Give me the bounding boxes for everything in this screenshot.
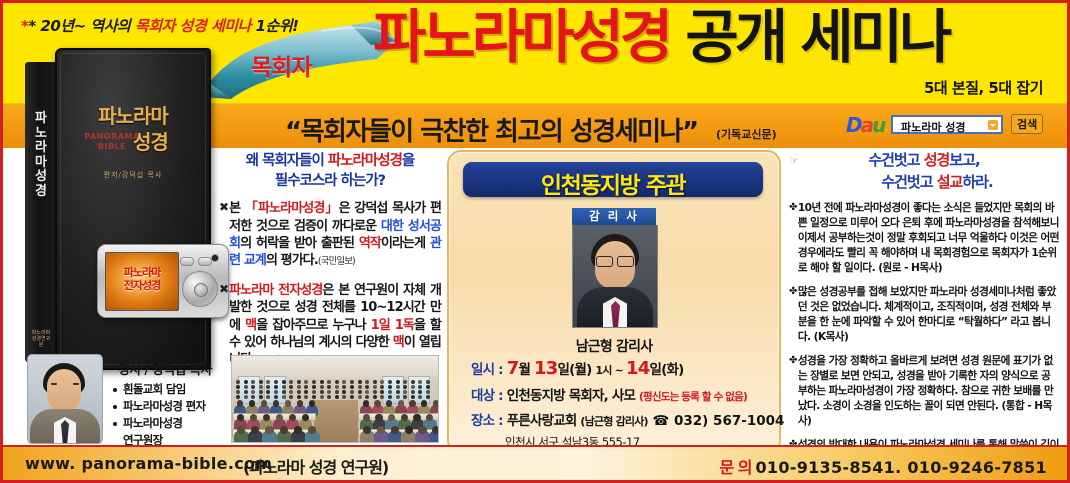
audience-head <box>327 385 331 389</box>
book-cover: 파노라마 PANORAMA BIBLE 성경 편저/강덕섭 목사 파노라마 전자… <box>55 48 211 370</box>
photo-ceiling <box>232 356 438 378</box>
audience-head <box>282 385 286 389</box>
event-card: 인천동지방 주관 감 리 사 남근형 감리사 일시 :7월 13일(월) 1시 … <box>447 150 781 454</box>
audience-head <box>373 390 377 394</box>
audience-head <box>396 395 400 399</box>
audience-head <box>411 385 415 389</box>
device-camera-icon <box>211 254 219 262</box>
audience-desk <box>358 442 439 443</box>
instructor-eye-left <box>51 383 57 385</box>
audience-head <box>358 385 362 389</box>
search-input-value: 파노라마 성경 <box>901 119 966 135</box>
audience-head <box>274 395 278 399</box>
right-heading-1a: 수건벗고 <box>868 151 923 169</box>
audience-head <box>265 426 273 434</box>
event-detail-value: 7월 13일(월) 1시 ~ 14일(화) <box>507 358 684 379</box>
audience-head <box>426 395 430 399</box>
text-run: 의 허락을 받아 출판된 <box>240 236 359 251</box>
audience-head <box>403 385 407 389</box>
audience-head <box>373 380 377 384</box>
event-detail-label: 일시 : <box>471 358 503 378</box>
text-run: 을 잡아주므로 누구나 <box>256 318 370 333</box>
audience-head <box>274 385 278 389</box>
quote-text: “목회자들이 극찬한 최고의 성경세미나” <box>285 111 698 148</box>
search-input[interactable]: 파노라마 성경 <box>891 115 1003 134</box>
audience-head <box>312 380 316 384</box>
right-heading-1b: 보고, <box>949 151 979 169</box>
audience-head <box>405 426 413 434</box>
text-run: 맥 <box>245 318 256 333</box>
bullet-icon: ✤ <box>789 354 797 368</box>
footer-organization: (파노라마 성경 연구원) <box>243 454 388 478</box>
audience-head <box>244 385 248 389</box>
bible-book-image: 파노라마 성경 파노라마 성경연구원 파노라마 PANORAMA BIBLE 성… <box>25 48 211 370</box>
audience-head <box>309 400 316 407</box>
audience-desk <box>232 442 316 443</box>
audience-head <box>350 385 354 389</box>
daum-logo-d: D <box>846 113 861 137</box>
audience-head <box>396 385 400 389</box>
audience-head <box>312 390 316 394</box>
book-cover-title-1: 파노라마 <box>55 100 211 129</box>
audience-head <box>274 380 278 384</box>
instructor-credential: 흰돌교회 담임 <box>113 382 217 397</box>
audience-head <box>285 400 292 407</box>
audience-head <box>350 395 354 399</box>
audience-head <box>289 380 293 384</box>
audience-head <box>327 395 331 399</box>
audience-head <box>289 385 293 389</box>
audience-head <box>363 400 370 407</box>
tagline-pre: * 20년~ 역사의 <box>28 17 135 35</box>
audience-head <box>365 380 369 384</box>
audience-head <box>342 395 346 399</box>
testimonial-list: ✤10년 전에 파노라마성경이 좋다는 소식은 들었지만 목회의 바쁜 일정으로… <box>789 201 1059 483</box>
audience-head <box>304 380 308 384</box>
header-subtitle: 5대 본질, 5대 잡기 <box>924 77 1043 98</box>
instructor-credential: 파노라마성경 편자 <box>113 399 217 414</box>
audience-head <box>421 400 428 407</box>
audience-head <box>403 380 407 384</box>
book-cover-author: 편저/강덕섭 목사 <box>55 170 211 180</box>
photo-aisle <box>314 400 358 442</box>
audience-head <box>418 426 426 434</box>
glasses-icon <box>595 256 635 265</box>
audience-head <box>388 390 392 394</box>
audience-head <box>312 395 316 399</box>
audience-head <box>411 390 415 394</box>
audience-head <box>374 400 381 407</box>
audience-head <box>342 390 346 394</box>
audience-head <box>391 426 399 434</box>
audience-head <box>297 385 301 389</box>
quote-source: (기독교신문) <box>716 126 777 142</box>
instructor-details: 강사 / 강덕섭 목사 흰돌교회 담임파노라마성경 편자파노라마성경연구원장 <box>103 354 217 450</box>
poster-root: ** 20년~ 역사의 목회자 성경 세미나 1순위! <box>0 0 1070 483</box>
daum-logo-u: u <box>872 113 884 137</box>
right-heading-line2: 수건벗고 설교하라. <box>789 172 1059 194</box>
instructor-block: 강사 / 강덕섭 목사 흰돌교회 담임파노라마성경 편자파노라마성경연구원장 <box>27 354 217 450</box>
text-run: 「파노라마성경」 <box>245 201 339 216</box>
host-photo-block: 감 리 사 <box>572 208 656 328</box>
right-heading-2a: 수건벗고 <box>881 173 936 191</box>
audience-head <box>297 395 301 399</box>
audience-head <box>259 395 263 399</box>
audience-head <box>320 395 324 399</box>
audience-head <box>375 414 382 421</box>
audience-head <box>274 390 278 394</box>
event-detail-value: 인천동지방 목회자, 사모 (평신도는 등록 할 수 없음) <box>507 384 747 404</box>
right-heading-1-highlight: 성경 <box>924 151 950 169</box>
main-title-red: 파노라마성경 <box>373 3 669 71</box>
bullet-icon: ✤ <box>789 201 797 215</box>
text-run: 파노라마 전자성경 <box>229 283 322 298</box>
chevron-down-icon[interactable] <box>988 120 998 130</box>
instructor-face <box>47 369 81 411</box>
instructor-title: 강사 / 강덕섭 목사 <box>113 359 217 378</box>
audience-head <box>236 380 240 384</box>
text-run: 1시 ~ <box>595 364 626 377</box>
device-label-line1: 파노라마 <box>106 267 178 280</box>
text-run: 본 <box>229 201 245 216</box>
audience-head <box>237 400 244 407</box>
device-button-a <box>180 257 194 266</box>
left-heading-highlight: 파노라마성경 <box>328 153 402 169</box>
audience-head <box>365 385 369 389</box>
audience-head <box>432 426 439 434</box>
audience-head <box>297 380 301 384</box>
text-run: 13 <box>534 358 557 379</box>
event-detail-rows: 일시 :7월 13일(월) 1시 ~ 14일(화)대상 :인천동지방 목회자, … <box>471 358 765 450</box>
text-run: 7 <box>507 358 519 379</box>
audience-head <box>358 390 362 394</box>
bullet-icon: ✤ <box>789 285 797 299</box>
text-run: 월 <box>518 362 534 378</box>
instructor-credential: 파노라마성경 <box>113 416 217 431</box>
audience-head <box>320 390 324 394</box>
text-run: 인천동지방 목회자, 사모 <box>507 388 639 404</box>
audience-head <box>297 400 304 407</box>
audience-head <box>236 395 240 399</box>
electronic-bible-device: 파노라마 전자성경 <box>97 244 229 318</box>
left-heading-line2: 필수코스라 하는가? <box>275 173 385 189</box>
body-area: 파노라마 성경 파노라마 성경연구원 파노라마 PANORAMA BIBLE 성… <box>3 148 1067 447</box>
right-heading-2-highlight: 설교 <box>937 173 963 191</box>
left-column-heading: 왜 목회자들이 파노라마성경을 필수코스라 하는가? <box>219 152 441 191</box>
audience-head <box>373 395 377 399</box>
audience-head <box>297 390 301 394</box>
audience-head <box>335 390 339 394</box>
audience-head <box>335 380 339 384</box>
audience-head <box>388 395 392 399</box>
left-column: 왜 목회자들이 파노라마성경을 필수코스라 하는가? ✖본 「파노라마성경」은 … <box>219 152 441 381</box>
device-button-b <box>198 257 212 266</box>
audience-head <box>388 385 392 389</box>
instructor-eye-right <box>73 383 79 385</box>
audience-head <box>259 390 263 394</box>
text-run: (남근형 감리사) <box>580 415 647 428</box>
device-screen-label: 파노라마 전자성경 <box>106 267 178 292</box>
audience-head <box>426 390 430 394</box>
audience-head <box>280 426 288 434</box>
text-run: 푸른사랑교회 <box>507 413 581 429</box>
device-wheel-control <box>182 271 218 307</box>
audience-head <box>236 385 240 389</box>
audience-head <box>413 414 420 421</box>
audience-head <box>236 390 240 394</box>
testimonial-text: 10년 전에 파노라마성경이 좋다는 소식은 들었지만 목회의 바쁜 일정으로 … <box>798 201 1059 276</box>
audience-head <box>312 385 316 389</box>
left-paragraph: ✖본 「파노라마성경」은 강덕섭 목사가 편저한 것으로 검증이 까다로운 대한… <box>219 200 441 270</box>
ribbon-label: 목회자 <box>251 48 311 82</box>
text-run: 1일 1독 <box>371 318 414 333</box>
left-column-paragraphs: ✖본 「파노라마성경」은 강덕섭 목사가 편저한 것으로 검증이 까다로운 대한… <box>219 200 441 369</box>
main-title-black: 공개 세미나 <box>685 3 948 71</box>
audience-head <box>244 380 248 384</box>
audience-head <box>358 395 362 399</box>
text-run: 이라는게 <box>381 236 430 251</box>
event-detail-row: 일시 :7월 13일(월) 1시 ~ 14일(화) <box>471 358 765 379</box>
host-portrait <box>572 225 658 328</box>
audience-head <box>273 400 280 407</box>
audience-head <box>426 385 430 389</box>
audience-head <box>320 380 324 384</box>
footer-contact-numbers: 010-9135-8541. 010-9246-7851 <box>755 458 1047 477</box>
audience-head <box>259 385 263 389</box>
audience-head <box>261 400 268 407</box>
instructor-credentials: 흰돌교회 담임파노라마성경 편자파노라마성경연구원장 <box>113 382 217 448</box>
audience-head <box>304 390 308 394</box>
audience-head <box>289 395 293 399</box>
event-detail-label: 대상 : <box>471 384 503 404</box>
audience-head <box>259 380 263 384</box>
text-run: (평신도는 등록 할 수 없음) <box>639 391 747 403</box>
audience-head <box>282 390 286 394</box>
audience-head <box>433 400 439 407</box>
event-detail-label: 장소 : <box>471 409 503 429</box>
audience-head <box>373 385 377 389</box>
audience-head <box>335 385 339 389</box>
event-detail-row: 대상 :인천동지방 목회자, 사모 (평신도는 등록 할 수 없음) <box>471 384 765 404</box>
testimonial-text: 많은 성경공부를 접해 보았지만 파노라마 성경세미나처럼 좋았던 것은 없었습… <box>798 285 1059 345</box>
audience-head <box>398 400 405 407</box>
audience-head <box>403 390 407 394</box>
host-name: 남근형 감리사 <box>449 336 779 356</box>
audience-head <box>426 380 430 384</box>
audience-head <box>249 400 256 407</box>
audience-head <box>320 385 324 389</box>
audience-head <box>304 385 308 389</box>
audience-head <box>350 390 354 394</box>
audience-head <box>282 380 286 384</box>
device-screen: 파노라마 전자성경 <box>105 252 179 311</box>
book-spine-footer: 파노라마 성경연구원 <box>30 330 52 348</box>
right-heading-2b: 하라. <box>962 173 992 191</box>
audience-head <box>289 390 293 394</box>
audience-head <box>350 380 354 384</box>
footer-contact: 문 의010-9135-8541. 010-9246-7851 <box>719 454 1047 478</box>
text-run: 일(월) <box>557 362 595 378</box>
left-heading-a: 왜 목회자들이 <box>246 153 328 169</box>
host-role-badge: 감 리 사 <box>572 208 656 225</box>
audience-head <box>386 400 393 407</box>
text-run: 일(화) <box>649 362 683 378</box>
footer-website[interactable]: www. panorama-bible.com <box>25 454 272 473</box>
daum-logo-a: a <box>861 113 873 137</box>
instructor-portrait <box>27 354 103 444</box>
audience-head <box>365 395 369 399</box>
text-run: 역작 <box>359 236 381 251</box>
audience-head <box>411 395 415 399</box>
right-column: ☞ 수건벗고 성경보고, 수건벗고 설교하라. ✤10년 전에 파노라마성경이 … <box>789 150 1059 445</box>
pointing-hand-icon: ☞ <box>789 153 798 169</box>
text-run: ☎ 032) 567-1004 <box>648 413 785 429</box>
device-label-line2: 전자성경 <box>106 280 178 293</box>
audience-head <box>396 380 400 384</box>
testimonial-item: ✤많은 성경공부를 접해 보았지만 파노라마 성경세미나처럼 좋았던 것은 없었… <box>789 285 1059 345</box>
right-column-heading: ☞ 수건벗고 성경보고, 수건벗고 설교하라. <box>789 150 1059 194</box>
audience-head <box>335 395 339 399</box>
audience-head <box>327 380 331 384</box>
text-run: 맥 <box>393 335 404 350</box>
testimonial-item: ✤10년 전에 파노라마성경이 좋다는 소식은 들었지만 목회의 바쁜 일정으로… <box>789 201 1059 276</box>
event-detail-row: 장소 :푸른사랑교회 (남근형 감리사) ☎ 032) 567-1004 <box>471 409 765 429</box>
audience-head <box>244 390 248 394</box>
audience-head <box>365 390 369 394</box>
audience-head <box>388 380 392 384</box>
audience-head <box>396 390 400 394</box>
footer-bar: www. panorama-bible.com (파노라마 성경 연구원) 문 … <box>3 445 1067 480</box>
event-card-banner: 인천동지방 주관 <box>463 162 763 197</box>
book-spine-title: 파노라마 성경 <box>31 112 51 199</box>
audience-head <box>403 395 407 399</box>
audience-head <box>358 380 362 384</box>
event-detail-value: 푸른사랑교회 (남근형 감리사) ☎ 032) 567-1004 <box>507 409 785 429</box>
audience-head <box>327 390 331 394</box>
audience-head <box>409 400 416 407</box>
bullet-icon: ✖ <box>219 200 228 216</box>
audience-head <box>304 395 308 399</box>
text-run: (국민일보) <box>318 256 355 267</box>
audience-head <box>244 395 248 399</box>
text-run: 14 <box>626 358 649 379</box>
main-title: 파노라마성경 공개 세미나 <box>373 8 948 66</box>
footer-contact-label: 문 의 <box>719 458 751 477</box>
book-cover-title-2: 성경 <box>133 126 168 155</box>
book-spine: 파노라마 성경 파노라마 성경연구원 <box>25 62 57 362</box>
text-run: 의 평가다. <box>266 253 318 268</box>
seminar-audience-photo <box>231 355 439 443</box>
search-button[interactable]: 검색 <box>1011 114 1043 134</box>
testimonial-item: ✤성경을 가장 정확하고 올바르게 보려면 성경 원문에 표기가 없는 장별로 … <box>789 354 1059 429</box>
bullet-icon: ✖ <box>219 282 228 298</box>
audience-head <box>342 380 346 384</box>
audience-head <box>342 385 346 389</box>
event-card-banner-text: 인천동지방 주관 <box>463 166 763 200</box>
left-paragraph-text: 본 「파노라마성경」은 강덕섭 목사가 편저한 것으로 검증이 까다로운 대한 … <box>229 200 441 270</box>
testimonial-text: 성경을 가장 정확하고 올바르게 보려면 성경 원문에 표기가 없는 장별로 보… <box>798 354 1059 429</box>
left-heading-b: 을 <box>402 153 414 169</box>
audience-head <box>282 395 286 399</box>
audience-head <box>411 380 415 384</box>
